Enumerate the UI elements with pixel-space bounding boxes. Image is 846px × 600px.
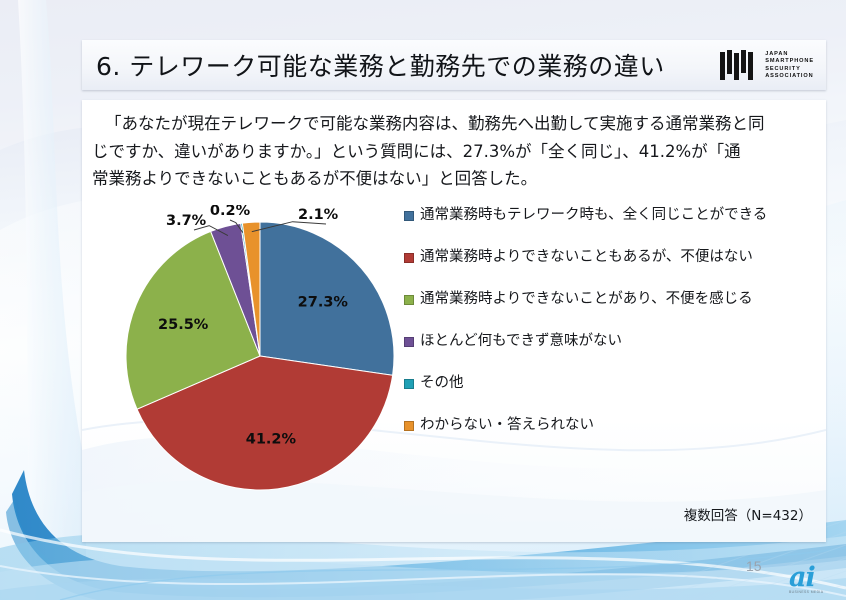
legend-item-3[interactable]: ほとんど何もできず意味がない [404,333,824,375]
logo-text: JAPAN SMARTPHONE SECURITY ASSOCIATION [765,51,814,80]
pie-chart: 27.3%41.2%25.5%3.7%0.2%2.1% 通常業務時もテレワーク時… [82,205,826,505]
chart-footnote: 複数回答（N=432） [684,504,812,524]
content-panel: 「あなたが現在テレワークで可能な業務内容は、勤務先へ出勤して実施する通常業務と同… [82,100,826,542]
slide-canvas: 6. テレワーク可能な業務と勤務先での業務の違い JAPAN SMARTPHON… [0,0,846,600]
pie-value-label-3: 3.7% [166,213,207,229]
pie-value-label-5: 2.1% [298,207,339,223]
legend-swatch-5 [404,421,414,431]
pie-graphic: 27.3%41.2%25.5%3.7%0.2%2.1% [122,205,432,505]
legend-label-4: その他 [420,375,464,392]
legend-item-0[interactable]: 通常業務時もテレワーク時も、全く同じことができる [404,207,824,249]
ai-watermark-sub: BUSINESS MEDIA [789,590,835,594]
title-bar: 6. テレワーク可能な業務と勤務先での業務の違い JAPAN SMARTPHON… [82,40,826,90]
pie-slices [126,222,394,490]
legend-label-3: ほとんど何もできず意味がない [420,333,622,350]
legend-swatch-1 [404,253,414,263]
legend-swatch-2 [404,295,414,305]
logo-line-3: SECURITY [765,66,814,73]
page-title: 6. テレワーク可能な業務と勤務先での業務の違い [96,47,665,83]
pie-value-label-4: 0.2% [210,205,251,219]
logo-line-2: SMARTPHONE [765,58,814,65]
legend-item-1[interactable]: 通常業務時よりできないこともあるが、不便はない [404,249,824,291]
legend-label-1: 通常業務時よりできないこともあるが、不便はない [420,249,753,266]
legend-item-4[interactable]: その他 [404,375,824,417]
legend-item-2[interactable]: 通常業務時よりできないことがあり、不便を感じる [404,291,824,333]
pie-value-label-1: 41.2% [246,431,297,447]
lead-paragraph: 「あなたが現在テレワークで可能な業務内容は、勤務先へ出勤して実施する通常業務と同… [92,110,814,193]
legend-swatch-0 [404,211,414,221]
logo-bars-icon [720,50,760,81]
legend-swatch-3 [404,337,414,347]
pie-value-label-0: 27.3% [298,295,349,311]
page-number: 15 [746,558,762,574]
jssec-logo: JAPAN SMARTPHONE SECURITY ASSOCIATION [720,49,814,82]
ai-watermark-mark: ai [789,566,835,590]
logo-line-1: JAPAN [765,51,814,58]
chart-legend: 通常業務時もテレワーク時も、全く同じことができる 通常業務時よりできないこともあ… [404,207,824,459]
legend-label-5: わからない・答えられない [420,417,594,434]
paragraph-line-2: じですか、違いがありますか。」という質問には、27.3%が「全く同じ」、41.2… [92,138,814,166]
legend-label-0: 通常業務時もテレワーク時も、全く同じことができる [420,207,767,224]
pie-value-label-2: 25.5% [158,317,209,333]
legend-swatch-4 [404,379,414,389]
logo-line-4: ASSOCIATION [765,73,814,80]
paragraph-line-1: 「あなたが現在テレワークで可能な業務内容は、勤務先へ出勤して実施する通常業務と同 [92,110,814,138]
legend-label-2: 通常業務時よりできないことがあり、不便を感じる [420,291,753,308]
ai-watermark: ai BUSINESS MEDIA [789,566,835,596]
pie-svg: 27.3%41.2%25.5%3.7%0.2%2.1% [122,205,432,505]
paragraph-line-3: 常業務よりできないこともあるが不便はない」と回答した。 [92,165,814,193]
legend-item-5[interactable]: わからない・答えられない [404,417,824,459]
